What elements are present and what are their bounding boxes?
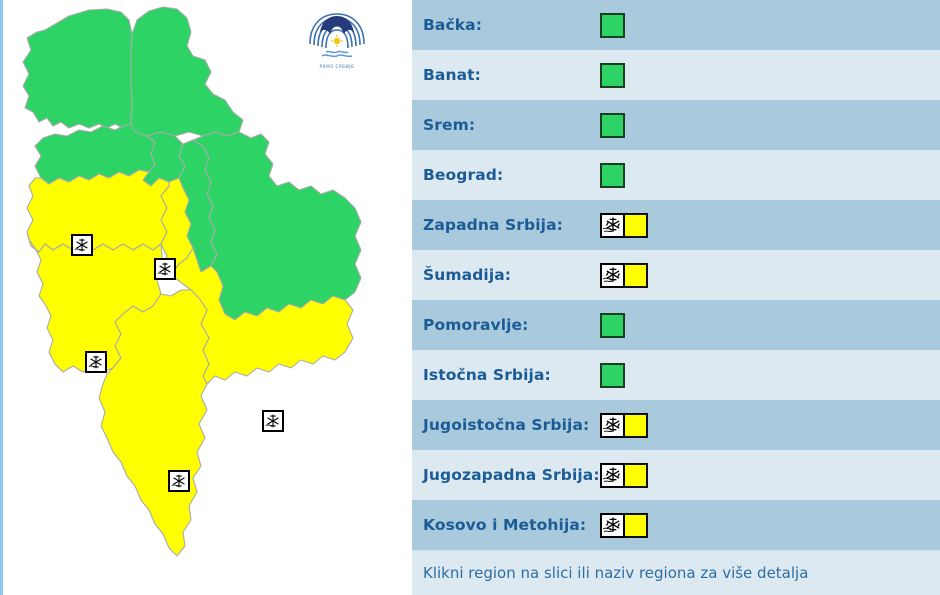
region-name-label[interactable]: Banat: [423, 66, 598, 84]
logo-caption: РХМЗ СРБИЈЕ [320, 64, 355, 69]
serbia-regions[interactable] [3, 0, 413, 595]
region-name-label[interactable]: Bačka: [423, 16, 598, 34]
snow-icon [600, 463, 625, 488]
region-name-label[interactable]: Kosovo i Metohija: [423, 516, 598, 534]
region-badges [600, 363, 625, 388]
severity-color-box [600, 63, 625, 88]
region-row-8[interactable]: Istočna Srbija: [412, 350, 940, 400]
severity-color-box [623, 263, 648, 288]
region-name-label[interactable]: Srem: [423, 116, 598, 134]
region-name-label[interactable]: Istočna Srbija: [423, 366, 598, 384]
region-row-1[interactable]: Bačka: [412, 0, 940, 50]
region-row-4[interactable]: Beograd: [412, 150, 940, 200]
region-row-9[interactable]: Jugoistočna Srbija: [412, 400, 940, 450]
snow-icon [600, 513, 625, 538]
region-rows: Bačka: Banat: Srem: Beograd: Zapadna Srb… [412, 0, 940, 550]
region-name-label[interactable]: Zapadna Srbija: [423, 216, 598, 234]
region-badges [600, 313, 625, 338]
region-badges [600, 413, 648, 438]
region-row-5[interactable]: Zapadna Srbija: [412, 200, 940, 250]
region-name-label[interactable]: Jugozapadna Srbija: [423, 466, 598, 484]
region-warning-list: Bačka: Banat: Srem: Beograd: Zapadna Srb… [410, 0, 940, 595]
snow-marker-jugoistocna-srbija[interactable] [262, 410, 284, 432]
serbia-warning-map[interactable]: РХМЗ СРБИЈЕ [0, 0, 410, 595]
snow-icon [600, 213, 625, 238]
region-row-2[interactable]: Banat: [412, 50, 940, 100]
severity-color-box [600, 163, 625, 188]
region-name-label[interactable]: Šumadija: [423, 266, 598, 284]
snow-icon [600, 263, 625, 288]
region-row-7[interactable]: Pomoravlje: [412, 300, 940, 350]
region-row-3[interactable]: Srem: [412, 100, 940, 150]
region-badges [600, 463, 648, 488]
region-row-6[interactable]: Šumadija: [412, 250, 940, 300]
region-badges [600, 63, 625, 88]
severity-color-box [623, 463, 648, 488]
snow-marker-zapadna-srbija[interactable] [71, 234, 93, 256]
severity-color-box [623, 213, 648, 238]
snow-marker-kosovo-metohija[interactable] [168, 470, 190, 492]
region-row-11[interactable]: Kosovo i Metohija: [412, 500, 940, 550]
region-badges [600, 13, 625, 38]
severity-color-box [600, 13, 625, 38]
region-badges [600, 263, 648, 288]
region-name-label[interactable]: Pomoravlje: [423, 316, 598, 334]
weather-warning-page: РХМЗ СРБИЈЕ Bačka: Banat: [0, 0, 940, 595]
severity-color-box [600, 313, 625, 338]
severity-color-box [623, 413, 648, 438]
severity-color-box [600, 363, 625, 388]
severity-color-box [623, 513, 648, 538]
rhmz-serbia-logo: РХМЗ СРБИЈЕ [306, 8, 368, 74]
snow-icon [600, 413, 625, 438]
region-badges [600, 513, 648, 538]
region-badges [600, 113, 625, 138]
region-name-label[interactable]: Jugoistočna Srbija: [423, 416, 598, 434]
snow-marker-sumadija[interactable] [154, 258, 176, 280]
region-name-label[interactable]: Beograd: [423, 166, 598, 184]
region-row-10[interactable]: Jugozapadna Srbija: [412, 450, 940, 500]
click-hint-text: Klikni region na slici ili naziv regiona… [423, 564, 808, 582]
click-hint: Klikni region na slici ili naziv regiona… [412, 550, 940, 595]
region-badges [600, 163, 625, 188]
severity-color-box [600, 113, 625, 138]
region-badges [600, 213, 648, 238]
snow-marker-jugozapadna-srbija[interactable] [85, 351, 107, 373]
